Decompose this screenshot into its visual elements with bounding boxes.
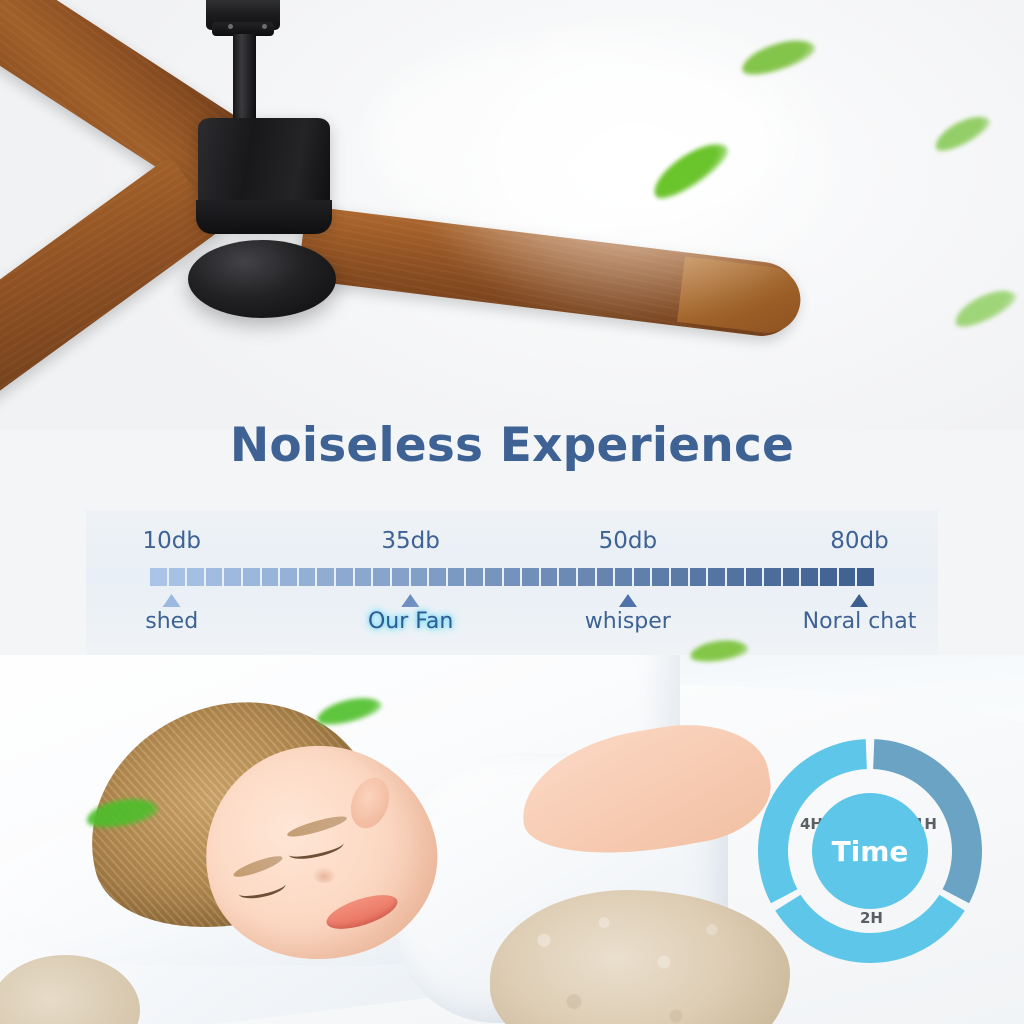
canopy-screw-left — [228, 24, 233, 29]
timer-center-label: Time — [832, 835, 909, 868]
noise-markers: shedOur FanwhisperNoral chat — [86, 510, 938, 658]
child-nose — [312, 867, 336, 883]
timer-label-2h: 2H — [860, 909, 883, 927]
fan-blade-lower-left — [0, 156, 223, 430]
noise-marker-4: Noral chat — [803, 594, 917, 634]
marker-label: Our Fan — [368, 609, 453, 634]
fan-motor-lip — [196, 200, 332, 234]
noise-scale-panel: 10db35db50db80db shedOur FanwhisperNoral… — [86, 510, 938, 658]
marker-label: Noral chat — [803, 609, 917, 634]
fan-blade-hub — [188, 240, 336, 318]
product-feature-page: Noiseless Experience 10db35db50db80db sh… — [0, 0, 1024, 1024]
marker-arrow-icon — [619, 594, 637, 607]
ceiling-fan-photo — [0, 0, 1024, 430]
page-title: Noiseless Experience — [0, 418, 1024, 473]
noise-marker-3: whisper — [585, 594, 671, 634]
marker-arrow-icon — [402, 594, 420, 607]
timer-dial[interactable]: 1H 2H 4H Time — [752, 733, 988, 969]
marker-label: shed — [145, 609, 198, 634]
blade-motion-blur — [370, 40, 790, 240]
fan-blade-right — [297, 206, 802, 340]
timer-center-button[interactable]: Time — [812, 793, 928, 909]
noise-marker-2: Our Fan — [368, 594, 453, 634]
marker-arrow-icon — [163, 594, 181, 607]
noise-marker-1: shed — [145, 594, 198, 634]
marker-label: whisper — [585, 609, 671, 634]
marker-arrow-icon — [851, 594, 869, 607]
canopy-screw-right — [262, 24, 267, 29]
